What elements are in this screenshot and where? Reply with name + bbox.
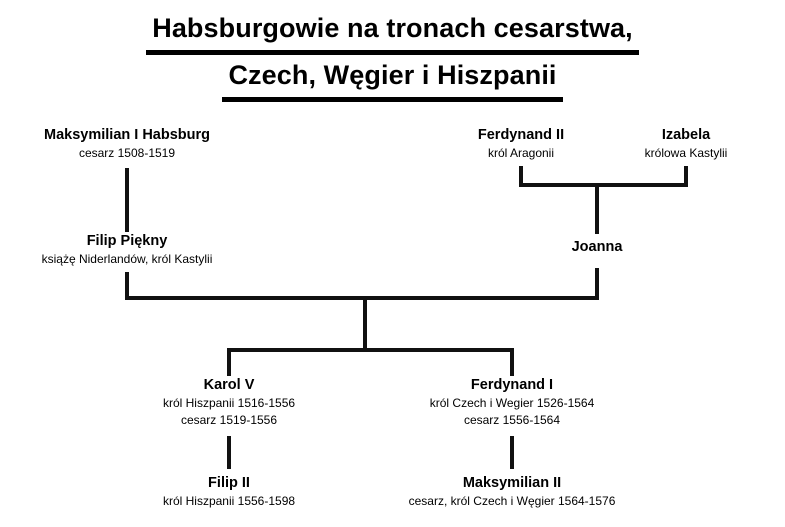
person-name: Maksymilian II — [409, 474, 616, 493]
connector-joanna-stem — [595, 268, 599, 300]
title-line-2-text: Czech, Węgier i Hiszpanii — [222, 55, 562, 102]
person-maksymilian-i-habsburg[interactable]: Maksymilian I Habsburg cesarz 1508-1519 — [44, 126, 210, 162]
person-name: Ferdynand II — [478, 126, 564, 145]
person-subtitle: królowa Kastylii — [645, 145, 728, 162]
person-subtitle-1: król Hiszpanii 1516-1556 — [163, 395, 295, 412]
connector-to-joanna — [595, 183, 599, 234]
diagram-title: Habsburgowie na tronach cesarstwa, Czech… — [0, 8, 785, 102]
connector-izabela-stem — [684, 166, 688, 187]
person-subtitle-2: cesarz 1556-1564 — [430, 412, 595, 429]
person-subtitle: cesarz 1508-1519 — [44, 145, 210, 162]
person-subtitle: książę Niderlandów, król Kastylii — [42, 251, 213, 268]
person-ferdynand-ii[interactable]: Ferdynand II król Aragonii — [478, 126, 564, 162]
person-ferdynand-i[interactable]: Ferdynand I król Czech i Wegier 1526-156… — [430, 376, 595, 429]
family-tree-diagram: Habsburgowie na tronach cesarstwa, Czech… — [0, 0, 785, 527]
person-name: Karol V — [163, 376, 295, 395]
person-filip-ii[interactable]: Filip II król Hiszpanii 1556-1598 — [163, 474, 295, 510]
title-line-1-text: Habsburgowie na tronach cesarstwa, — [146, 8, 639, 55]
person-subtitle: król Aragonii — [478, 145, 564, 162]
person-filip-piekny[interactable]: Filip Piękny książę Niderlandów, król Ka… — [42, 232, 213, 268]
person-joanna[interactable]: Joanna — [572, 238, 623, 257]
person-name: Joanna — [572, 238, 623, 257]
title-line-1: Habsburgowie na tronach cesarstwa, — [0, 8, 785, 55]
connector-ferdynand-to-maksymilian-ii — [510, 436, 514, 469]
person-name: Ferdynand I — [430, 376, 595, 395]
connector-maksymilian-to-filip — [125, 168, 129, 232]
person-name: Izabela — [645, 126, 728, 145]
connector-karol-to-filip-ii — [227, 436, 231, 469]
person-name: Maksymilian I Habsburg — [44, 126, 210, 145]
title-line-2: Czech, Węgier i Hiszpanii — [0, 55, 785, 102]
person-name: Filip Piękny — [42, 232, 213, 251]
connector-aragon-castile-bar — [519, 183, 688, 187]
connector-children-bar — [227, 348, 514, 352]
person-subtitle-1: król Czech i Wegier 1526-1564 — [430, 395, 595, 412]
connector-filip-joanna-bar — [125, 296, 599, 300]
person-maksymilian-ii[interactable]: Maksymilian II cesarz, król Czech i Węgi… — [409, 474, 616, 510]
connector-to-ferdynand-i — [510, 348, 514, 376]
person-subtitle: król Hiszpanii 1556-1598 — [163, 493, 295, 510]
person-name: Filip II — [163, 474, 295, 493]
person-subtitle-2: cesarz 1519-1556 — [163, 412, 295, 429]
person-karol-v[interactable]: Karol V król Hiszpanii 1516-1556 cesarz … — [163, 376, 295, 429]
person-izabela[interactable]: Izabela królowa Kastylii — [645, 126, 728, 162]
connector-children-drop — [363, 296, 367, 352]
person-subtitle: cesarz, król Czech i Węgier 1564-1576 — [409, 493, 616, 510]
connector-to-karol-v — [227, 348, 231, 376]
